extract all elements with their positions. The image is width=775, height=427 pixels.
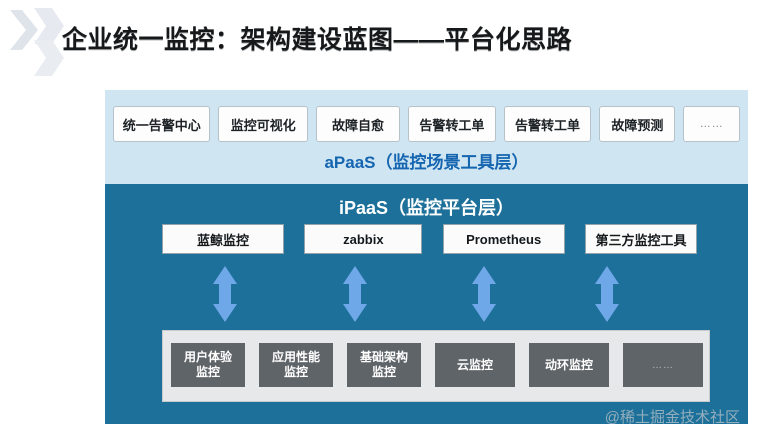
connector-arrow-row	[162, 264, 697, 326]
infrastructure-box-row: 用户体验 监控 应用性能 监控 基础架构 监控 云监控 动环监控 ……	[171, 343, 703, 387]
infrastructure-box-line1: 应用性能	[272, 350, 320, 365]
chevron-hexagon-logo-icon	[8, 6, 70, 78]
apaas-tool-box-row: 统一告警中心 监控可视化 故障自愈 告警转工单 告警转工单 故障预测 ……	[105, 105, 748, 143]
infrastructure-box-line1: 动环监控	[545, 358, 593, 373]
ipaas-platform-box[interactable]: zabbix	[304, 224, 422, 254]
apaas-tool-box[interactable]: 统一告警中心	[113, 106, 210, 142]
double-headed-vertical-arrow-icon	[469, 264, 499, 324]
apaas-tool-box[interactable]: 告警转工单	[408, 106, 496, 142]
ipaas-layer-panel: iPaaS（监控平台层） 蓝鲸监控 zabbix Prometheus 第三方监…	[105, 184, 748, 424]
infrastructure-box[interactable]: 基础架构 监控	[347, 343, 421, 387]
infrastructure-box[interactable]: 动环监控	[529, 343, 609, 387]
infrastructure-box-line2: 监控	[284, 365, 308, 380]
infrastructure-box-line2: 监控	[196, 365, 220, 380]
infrastructure-box-line1: ……	[652, 358, 674, 373]
infrastructure-box-line2: 监控	[372, 365, 396, 380]
infrastructure-box-line1: 云监控	[457, 358, 493, 373]
double-headed-vertical-arrow-icon	[210, 264, 240, 324]
apaas-tool-box-more[interactable]: ……	[683, 106, 740, 142]
apaas-tool-box[interactable]: 故障自愈	[316, 106, 400, 142]
apaas-layer-label: aPaaS（监控场景工具层）	[105, 148, 748, 173]
ipaas-platform-box[interactable]: 第三方监控工具	[585, 224, 697, 254]
ipaas-platform-box[interactable]: 蓝鲸监控	[162, 224, 284, 254]
infrastructure-box[interactable]: 应用性能 监控	[259, 343, 333, 387]
ipaas-platform-box-row: 蓝鲸监控 zabbix Prometheus 第三方监控工具	[162, 223, 697, 255]
apaas-tool-box[interactable]: 故障预测	[599, 106, 675, 142]
double-headed-vertical-arrow-icon	[340, 264, 370, 324]
infrastructure-box-more[interactable]: ……	[623, 343, 703, 387]
infrastructure-box-line1: 基础架构	[360, 350, 408, 365]
apaas-tool-box[interactable]: 告警转工单	[504, 106, 592, 142]
page-header: 企业统一监控：架构建设蓝图——平台化思路	[0, 0, 775, 84]
infrastructure-box-line1: 用户体验	[184, 350, 232, 365]
page-title: 企业统一监控：架构建设蓝图——平台化思路	[62, 20, 572, 56]
ipaas-platform-box[interactable]: Prometheus	[443, 224, 565, 254]
infrastructure-box[interactable]: 云监控	[435, 343, 515, 387]
infrastructure-panel: 用户体验 监控 应用性能 监控 基础架构 监控 云监控 动环监控 ……	[162, 330, 710, 402]
apaas-layer-panel: 统一告警中心 监控可视化 故障自愈 告警转工单 告警转工单 故障预测 …… aP…	[105, 90, 748, 184]
apaas-tool-box[interactable]: 监控可视化	[218, 106, 308, 142]
infrastructure-box[interactable]: 用户体验 监控	[171, 343, 245, 387]
double-headed-vertical-arrow-icon	[592, 264, 622, 324]
ipaas-layer-label: iPaaS（监控平台层）	[105, 194, 748, 220]
